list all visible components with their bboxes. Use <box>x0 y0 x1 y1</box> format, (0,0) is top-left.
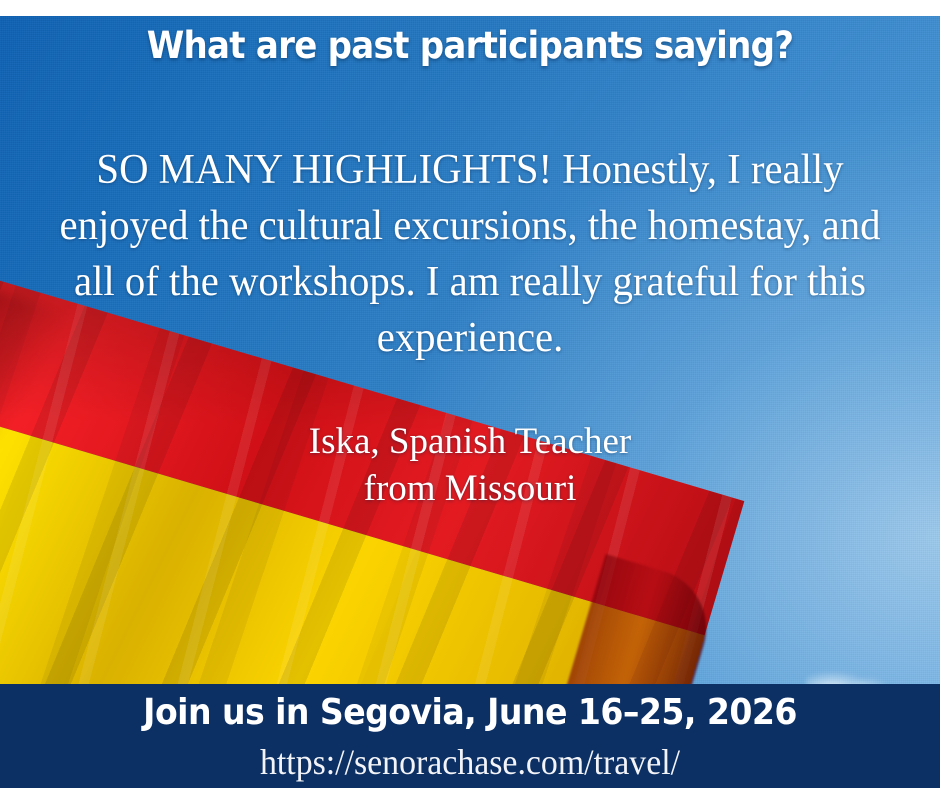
page-title: What are past participants saying? <box>38 24 903 67</box>
cta-banner: Join us in Segovia, June 16–25, 2026 htt… <box>0 684 940 788</box>
top-white-strip <box>0 0 940 16</box>
cta-url-link[interactable]: https://senorachase.com/travel/ <box>28 741 912 783</box>
attribution-location: from Missouri <box>36 465 904 512</box>
cta-headline: Join us in Segovia, June 16–25, 2026 <box>38 692 903 733</box>
testimonial-attribution: Iska, Spanish Teacher from Missouri <box>36 418 904 512</box>
attribution-name-role: Iska, Spanish Teacher <box>36 418 904 465</box>
promo-graphic: PLVS <box>0 0 940 788</box>
testimonial-quote: SO MANY HIGHLIGHTS! Honestly, I really e… <box>49 142 891 366</box>
